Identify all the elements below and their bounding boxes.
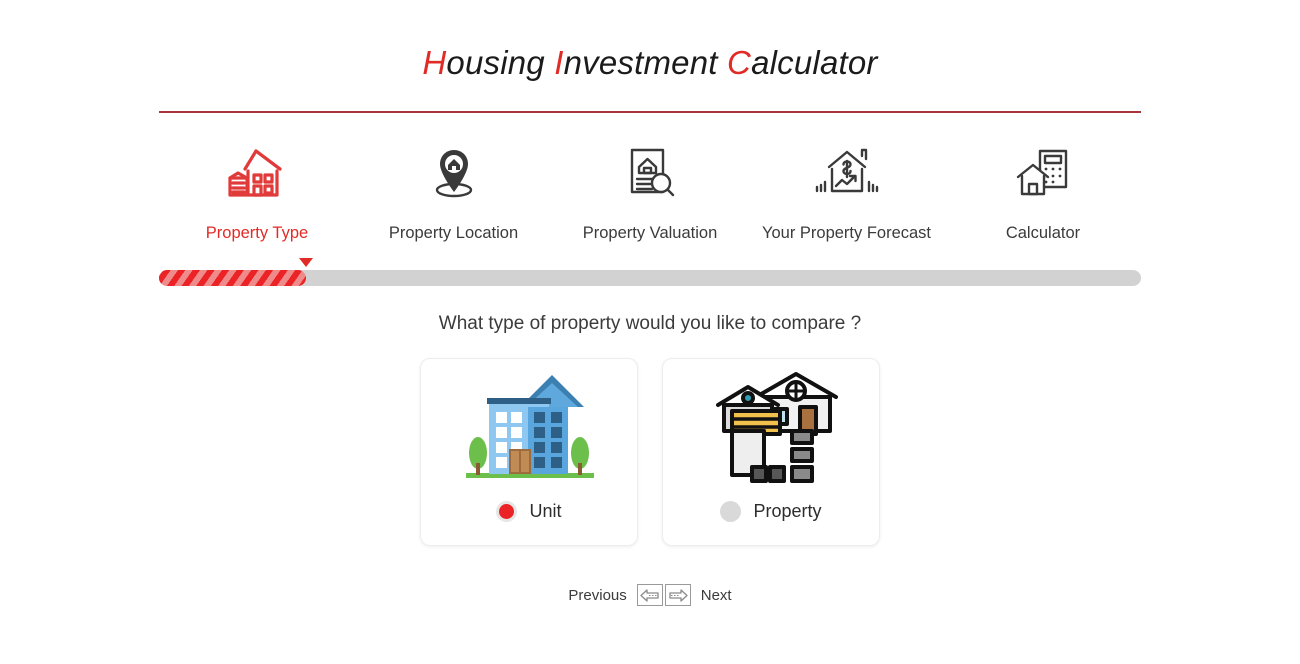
option-card-unit[interactable]: Unit: [420, 358, 638, 546]
sidebar-item-label: Your Property Forecast: [749, 224, 945, 243]
title-part-alculator: alculator: [751, 44, 878, 81]
radio-unit[interactable]: [496, 501, 517, 522]
apartment-building-art: [454, 369, 604, 489]
sidebar-item-property-type[interactable]: Property Type: [159, 142, 355, 243]
sidebar-item-calculator[interactable]: Calculator: [945, 142, 1141, 243]
title-divider: [159, 111, 1141, 113]
sidebar-item-label: Property Location: [356, 224, 552, 243]
property-type-options: Unit: [0, 358, 1300, 546]
previous-button[interactable]: Previous: [568, 587, 626, 604]
house-garage-icon: [159, 142, 355, 204]
page-title-wrap: Housing Investment Calculator: [0, 44, 1300, 82]
document-search-icon: [552, 142, 748, 204]
map-pin-house-icon: [356, 142, 552, 204]
arrow-left-icon: [640, 589, 660, 602]
option-card-property[interactable]: Property: [662, 358, 880, 546]
option-label-property: Property: [753, 501, 821, 522]
previous-arrow-button[interactable]: [637, 584, 663, 606]
calculator-house-icon: [945, 142, 1141, 204]
progress-marker-icon: [299, 258, 313, 267]
title-part-nvestment: nvestment: [564, 44, 727, 81]
house-chart-dollar-icon: [749, 142, 945, 204]
sidebar-item-property-valuation[interactable]: Property Valuation: [552, 142, 748, 243]
step-navigation: Property Type Property Location: [159, 142, 1141, 243]
option-choice-property[interactable]: Property: [720, 501, 821, 522]
title-cap-h: H: [422, 44, 446, 81]
title-cap-i: I: [554, 44, 563, 81]
next-arrow-button[interactable]: [665, 584, 691, 606]
arrow-right-icon: [668, 589, 688, 602]
progress-track: [159, 270, 1141, 286]
sidebar-item-label: Calculator: [945, 224, 1141, 243]
title-part-ousing: ousing: [446, 44, 554, 81]
radio-dot-icon: [499, 504, 514, 519]
nav-arrow-group: [637, 584, 691, 606]
sidebar-item-property-forecast[interactable]: Your Property Forecast: [749, 142, 945, 243]
title-cap-c: C: [727, 44, 751, 81]
sidebar-item-label: Property Valuation: [552, 224, 748, 243]
progress-bar[interactable]: [159, 270, 1141, 286]
option-choice-unit[interactable]: Unit: [496, 501, 561, 522]
wizard-navigation: Previous Next: [0, 584, 1300, 606]
next-button[interactable]: Next: [701, 587, 732, 604]
app-root: Housing Investment Calculator: [0, 0, 1300, 664]
radio-property[interactable]: [720, 501, 741, 522]
progress-fill: [159, 270, 306, 286]
option-label-unit: Unit: [529, 501, 561, 522]
sidebar-item-label: Property Type: [159, 224, 355, 243]
page-title: Housing Investment Calculator: [422, 44, 877, 82]
sidebar-item-property-location[interactable]: Property Location: [356, 142, 552, 243]
house-garage-art: [696, 369, 846, 489]
question-text: What type of property would you like to …: [0, 313, 1300, 335]
